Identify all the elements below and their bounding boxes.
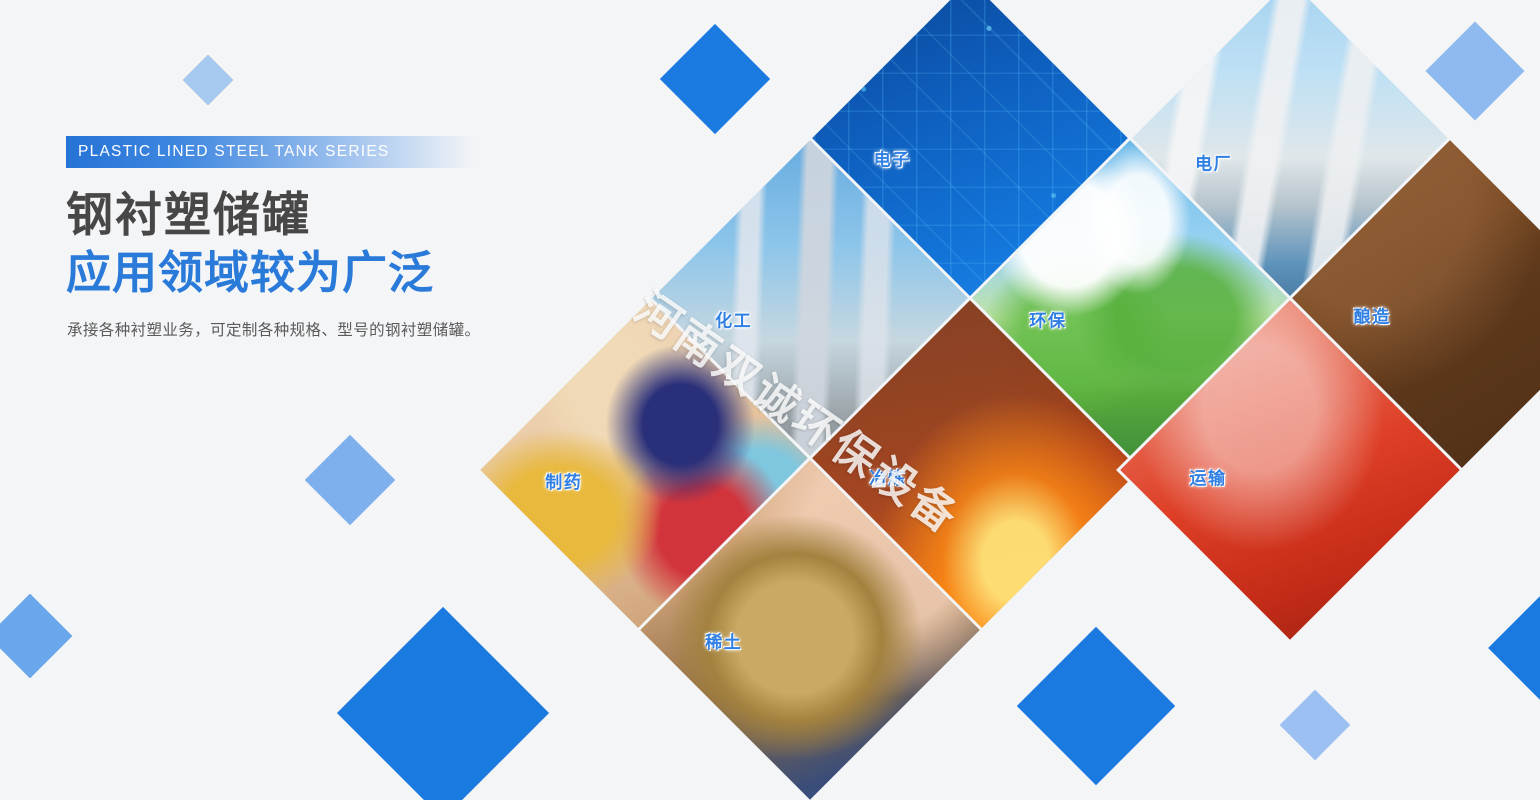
page-description: 承接各种衬塑业务，可定制各种规格、型号的钢衬塑储罐。 [67, 319, 626, 342]
headline-block: PLASTIC LINED STEEL TANK SERIES 钢衬塑储罐 应用… [66, 136, 626, 343]
deco-diamond-6 [337, 607, 549, 800]
deco-diamond-9 [1488, 580, 1540, 716]
eyebrow-banner: PLASTIC LINED STEEL TANK SERIES [66, 136, 476, 168]
decoration-layer-front [0, 0, 1540, 800]
page-subtitle: 应用领域较为广泛 [66, 248, 626, 298]
eyebrow-label: PLASTIC LINED STEEL TANK SERIES [66, 143, 390, 161]
deco-diamond-8 [1280, 690, 1351, 761]
deco-diamond-2 [660, 24, 770, 134]
banner-stage: 电子电厂化工环保酿造制药冶炼运输稀土 河南双诚环保设备 PLASTIC LINE… [0, 0, 1540, 800]
page-title: 钢衬塑储罐 [66, 190, 626, 240]
deco-diamond-7 [1017, 627, 1175, 785]
